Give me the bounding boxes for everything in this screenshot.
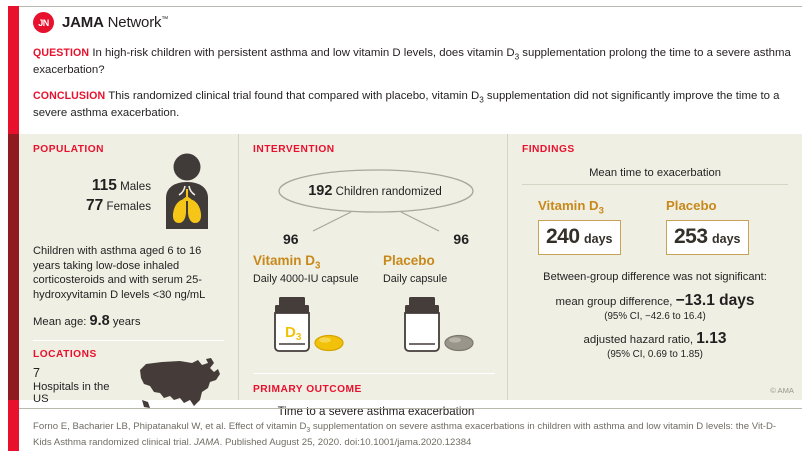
mean-age-row: Mean age: 9.8 years [33, 313, 224, 329]
logo-badge-text: JN [38, 18, 49, 28]
findings-vitamin-d-title-text: Vitamin D [538, 198, 599, 213]
population-description: Children with asthma aged 6 to 16 years … [33, 244, 224, 303]
findings-vitamin-d-subscript: 3 [599, 206, 604, 217]
arm-counts: 96 96 [253, 231, 497, 247]
conclusion-row: CONCLUSION This randomized clinical tria… [33, 89, 793, 121]
question-row: QUESTION In high-risk children with pers… [33, 46, 793, 78]
citation-part3: . Published August 25, 2020. doi:10.1001… [220, 437, 472, 448]
brand-jama: JAMA [62, 14, 104, 31]
hazard-ratio-ci: (95% CI, 0.69 to 1.85) [522, 349, 788, 360]
findings-value-boxes: Vitamin D3 240 days Placebo 253 days [522, 198, 788, 255]
findings-group-vitamin-d: Vitamin D3 240 days [538, 198, 642, 255]
hazard-ratio-row: adjusted hazard ratio, 1.13 [522, 330, 788, 348]
question-conclusion-block: QUESTION In high-risk children with pers… [33, 46, 793, 122]
arm-count-vitamin-d: 96 [283, 231, 299, 247]
males-label: Males [120, 180, 151, 193]
jama-network-logo-icon: JN [33, 12, 54, 33]
population-counts: 115 Males 77 Females [33, 177, 151, 217]
findings-vitamin-d-title: Vitamin D3 [538, 198, 642, 217]
hazard-ratio-value: 1.13 [696, 330, 726, 347]
findings-subtitle-rule [522, 184, 788, 185]
mean-age-value: 9.8 [90, 313, 110, 329]
findings-placebo-value: 253 [674, 225, 708, 248]
intervention-panel: INTERVENTION 192 Children randomized 96 … [238, 134, 508, 400]
trademark-mark: ™ [161, 16, 168, 23]
randomized-label: 192 Children randomized [253, 183, 497, 199]
citation-part1: Forno E, Bacharier LB, Phipatanakul W, e… [33, 421, 306, 432]
mean-group-difference-ci: (95% CI, −42.6 to 16.4) [522, 311, 788, 322]
question-label: QUESTION [33, 47, 89, 59]
arm-placebo-artwork [383, 293, 497, 362]
males-line: 115 Males [33, 177, 151, 195]
mean-group-difference-row: mean group difference, −13.1 days [522, 292, 788, 310]
findings-placebo-title: Placebo [666, 198, 770, 217]
randomized-text: Children randomized [336, 186, 442, 198]
findings-vitamin-d-value-box: 240 days [538, 220, 621, 255]
header: JN JAMA Network™ [19, 6, 802, 38]
locations-count: 7 [33, 366, 116, 380]
findings-subtitle: Mean time to exacerbation [522, 167, 788, 179]
copyright-notice: © AMA [770, 386, 794, 395]
citation-journal: JAMA [194, 437, 220, 448]
locations-description: Hospitals in the US [33, 381, 116, 405]
mean-age-label: Mean age: [33, 316, 86, 328]
findings-vitamin-d-value: 240 [546, 225, 580, 248]
accent-bar-middle [8, 134, 19, 400]
findings-vitamin-d-unit: days [584, 232, 613, 246]
conclusion-text-part1: This randomized clinical trial found tha… [108, 90, 479, 102]
mean-group-difference-label: mean group difference, [556, 296, 673, 308]
primary-outcome-label: PRIMARY OUTCOME [253, 384, 495, 395]
females-count: 77 [86, 197, 103, 214]
intervention-label: INTERVENTION [253, 144, 495, 155]
randomization-diagram: 192 Children randomized 96 96 [253, 161, 495, 281]
arm-count-placebo: 96 [453, 231, 469, 247]
intervention-divider [253, 373, 495, 374]
findings-placebo-unit: days [712, 232, 741, 246]
findings-label: FINDINGS [522, 144, 788, 155]
females-label: Females [107, 200, 151, 213]
question-text-part1: In high-risk children with persistent as… [92, 47, 514, 59]
findings-group-placebo: Placebo 253 days [666, 198, 770, 255]
findings-placebo-value-box: 253 days [666, 220, 749, 255]
findings-statistics: Between-group difference was not signifi… [522, 271, 788, 360]
person-with-lungs-icon [155, 153, 219, 234]
population-divider [33, 340, 224, 341]
population-counts-row: 115 Males 77 Females [33, 155, 224, 234]
population-panel: POPULATION 115 Males 77 Females [19, 134, 238, 400]
conclusion-label: CONCLUSION [33, 90, 105, 102]
brand-title: JAMA Network™ [62, 14, 168, 31]
arm-vitamin-d-artwork: D3 [253, 293, 371, 362]
mean-group-difference-value: −13.1 days [676, 292, 755, 309]
findings-placebo-title-text: Placebo [666, 198, 717, 213]
accent-bar-top [8, 6, 19, 134]
mean-age-unit: years [113, 316, 141, 328]
randomized-count: 192 [308, 183, 332, 199]
citation: Forno E, Bacharier LB, Phipatanakul W, e… [33, 420, 788, 451]
males-count: 115 [92, 177, 117, 194]
footer: Forno E, Bacharier LB, Phipatanakul W, e… [19, 408, 802, 451]
hazard-ratio-label: adjusted hazard ratio, [584, 334, 694, 346]
findings-panel: FINDINGS Mean time to exacerbation Vitam… [508, 134, 802, 400]
brand-network: Network [108, 14, 162, 31]
panels-container: POPULATION 115 Males 77 Females [19, 134, 802, 400]
females-line: 77 Females [33, 197, 151, 215]
locations-text: 7 Hospitals in the US [33, 366, 116, 405]
accent-bar-bottom [8, 400, 19, 451]
significance-statement: Between-group difference was not signifi… [522, 271, 788, 283]
visual-abstract: JN JAMA Network™ QUESTION In high-risk c… [0, 0, 810, 457]
